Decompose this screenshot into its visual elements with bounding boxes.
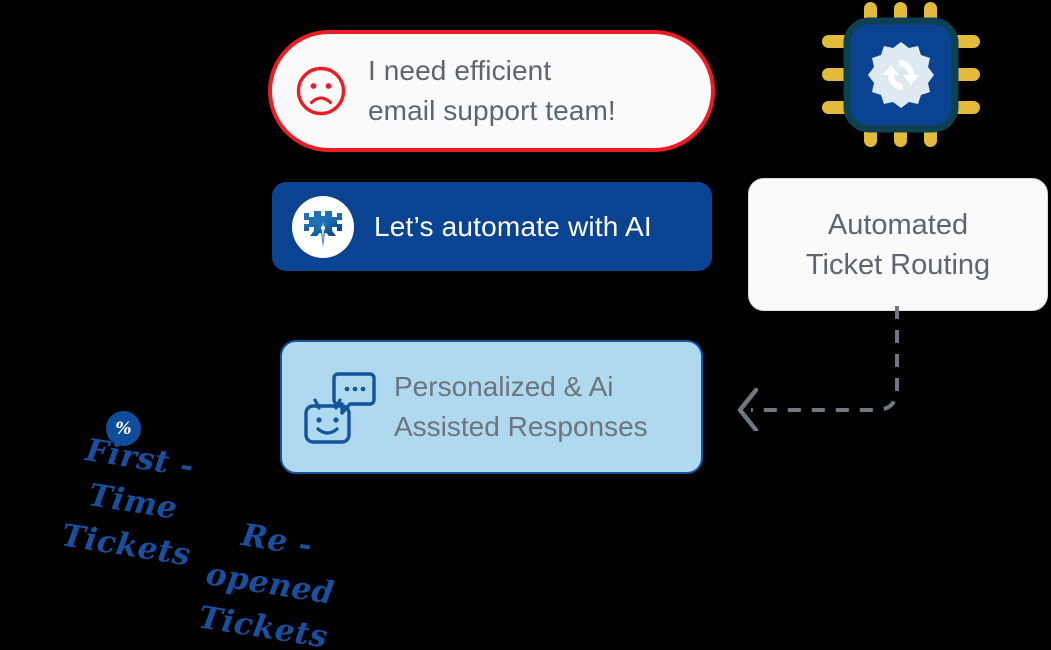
complaint-card[interactable]: I need efficient email support team! [268, 30, 715, 152]
automated-ticket-routing-card[interactable]: Automated Ticket Routing [748, 178, 1048, 311]
cpu-chip-sync-icon [822, 2, 980, 147]
sad-face-icon [294, 64, 348, 118]
automate-with-ai-card[interactable]: Let’s automate with AI [272, 182, 712, 271]
complaint-text: I need efficient email support team! [368, 51, 616, 131]
chatbot-icon [302, 368, 378, 446]
diagram-canvas: I need efficient email support team! [0, 0, 1051, 650]
automate-text: Let’s automate with AI [374, 211, 652, 243]
note-re-opened-tickets: Re - opened Tickets [171, 505, 369, 650]
gear-rocket-icon [292, 196, 354, 258]
personalized-responses-card[interactable]: Personalized & Ai Assisted Responses [280, 340, 703, 474]
personalized-text: Personalized & Ai Assisted Responses [394, 367, 648, 447]
dashed-elbow-arrow-icon [726, 306, 926, 431]
routing-text: Automated Ticket Routing [806, 205, 990, 285]
